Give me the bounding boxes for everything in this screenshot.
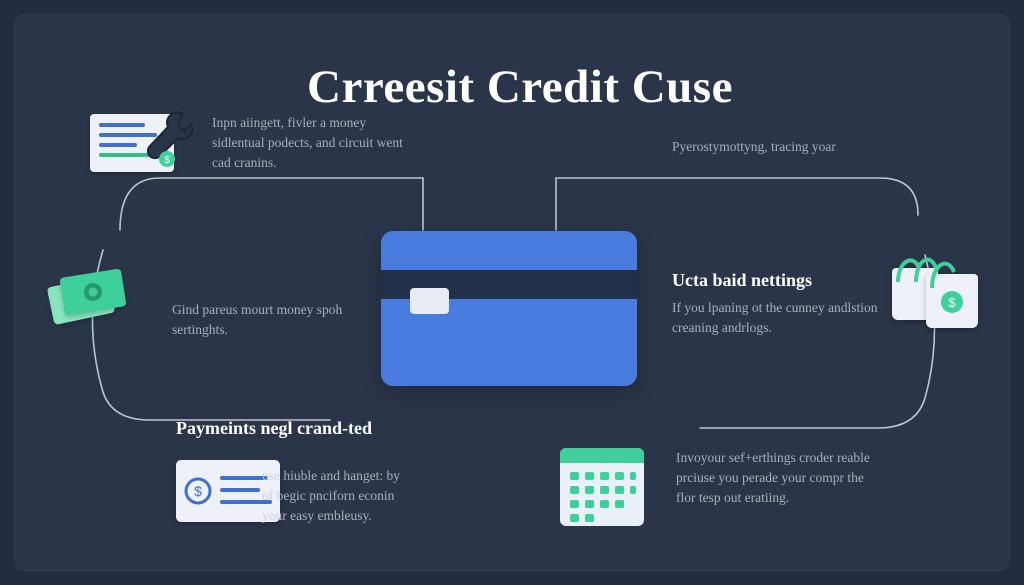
cash-money-icon xyxy=(48,265,146,327)
node-heading-mid-right: Ucta baid nettings xyxy=(672,270,812,291)
diagram-canvas: Crreesit Credit Cuse $ Inpn aiingett, fi… xyxy=(0,0,1024,585)
calendar-icon xyxy=(560,448,648,530)
node-body-top-left: Inpn aiingett, fivler a money sidlentual… xyxy=(212,113,408,173)
page-title: Crreesit Credit Cuse xyxy=(200,60,840,114)
node-heading-bottom-left: Paymeints negl crand-ted xyxy=(176,418,372,439)
document-wrench-icon: $ xyxy=(86,108,196,178)
node-body-bottom-right: Invoyour sef+erthings croder reable prci… xyxy=(676,448,872,508)
node-body-top-right: Pyerostymottyng, tracing yoar xyxy=(672,137,892,157)
svg-text:$: $ xyxy=(948,295,956,310)
node-body-mid-right: If you lpaning ot the cunney andlstion c… xyxy=(672,298,880,338)
credit-card-illustration xyxy=(381,231,637,386)
gift-bags-icon: $ xyxy=(892,248,996,334)
node-body-bottom-left: use hiuble and hanget: by of begic pncif… xyxy=(262,466,414,526)
svg-text:$: $ xyxy=(194,483,202,499)
card-chip xyxy=(410,288,449,314)
svg-text:$: $ xyxy=(164,155,170,166)
node-body-mid-left: Gind pareus mourt money spoh sertinghts. xyxy=(172,300,372,340)
